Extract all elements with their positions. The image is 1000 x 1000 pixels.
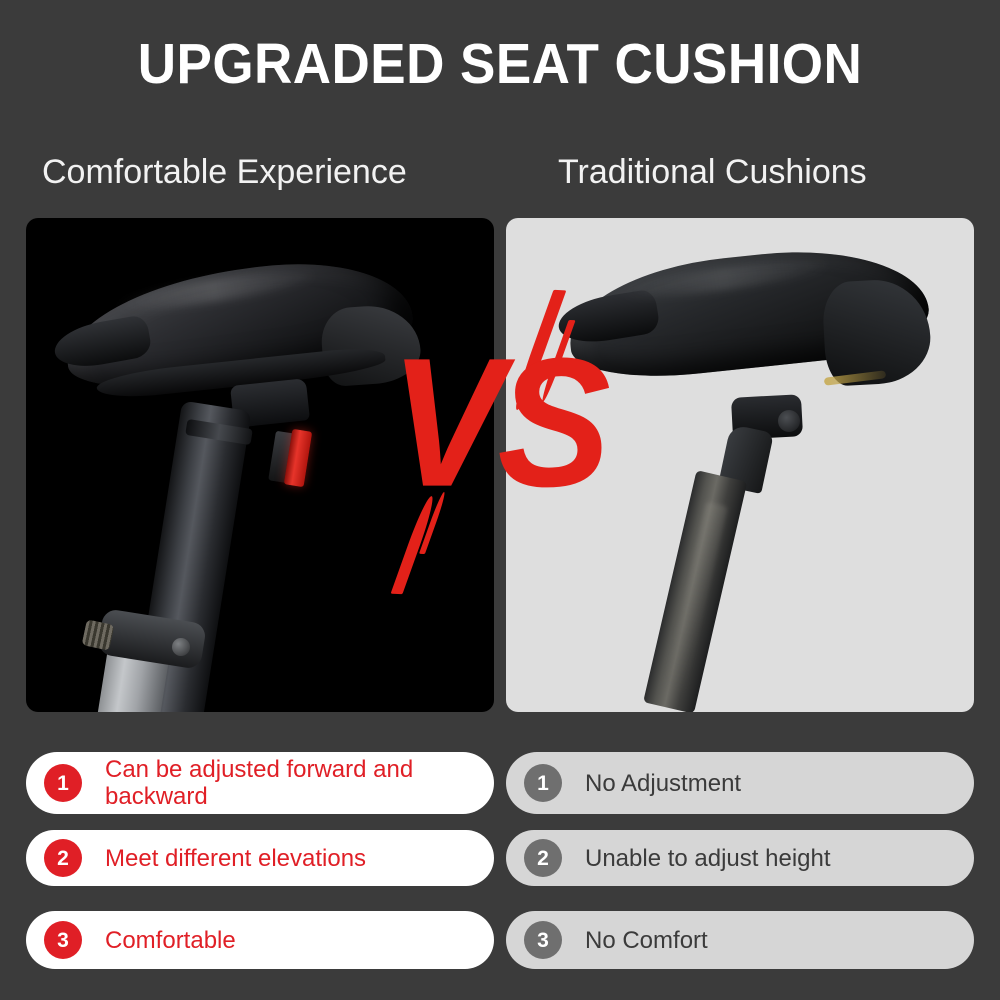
versus-badge: VS: [380, 260, 590, 600]
feature-label: Can be adjusted forward and backward: [105, 756, 478, 810]
feature-label: No Comfort: [585, 927, 708, 954]
feature-pill-bad-2: 2 Unable to adjust height: [506, 830, 974, 886]
feature-number-badge: 1: [524, 764, 562, 802]
right-column-subtitle: Traditional Cushions: [558, 150, 867, 194]
feature-label: No Adjustment: [585, 770, 741, 797]
old-clamp-bolt-icon: [778, 410, 800, 432]
feature-label: Unable to adjust height: [585, 845, 831, 872]
feature-number-badge: 2: [524, 839, 562, 877]
feature-number-badge: 3: [524, 921, 562, 959]
product-comparison-graphic: UPGRADED SEAT CUSHION Comfortable Experi…: [0, 0, 1000, 1000]
feature-pill-good-1: 1 Can be adjusted forward and backward: [26, 752, 494, 814]
feature-pill-bad-1: 1 No Adjustment: [506, 752, 974, 814]
feature-pill-good-3: 3 Comfortable: [26, 911, 494, 969]
left-column-subtitle: Comfortable Experience: [42, 150, 407, 194]
feature-number-badge: 2: [44, 839, 82, 877]
collar-adjust-knob-icon: [82, 619, 115, 650]
feature-label: Comfortable: [105, 927, 236, 954]
versus-label: VS: [390, 342, 605, 504]
feature-pill-bad-3: 3 No Comfort: [506, 911, 974, 969]
feature-label: Meet different elevations: [105, 845, 366, 872]
feature-number-badge: 1: [44, 764, 82, 802]
page-title: UPGRADED SEAT CUSHION: [35, 32, 965, 96]
feature-pill-good-2: 2 Meet different elevations: [26, 830, 494, 886]
collar-bolt-icon: [172, 638, 190, 656]
feature-number-badge: 3: [44, 921, 82, 959]
